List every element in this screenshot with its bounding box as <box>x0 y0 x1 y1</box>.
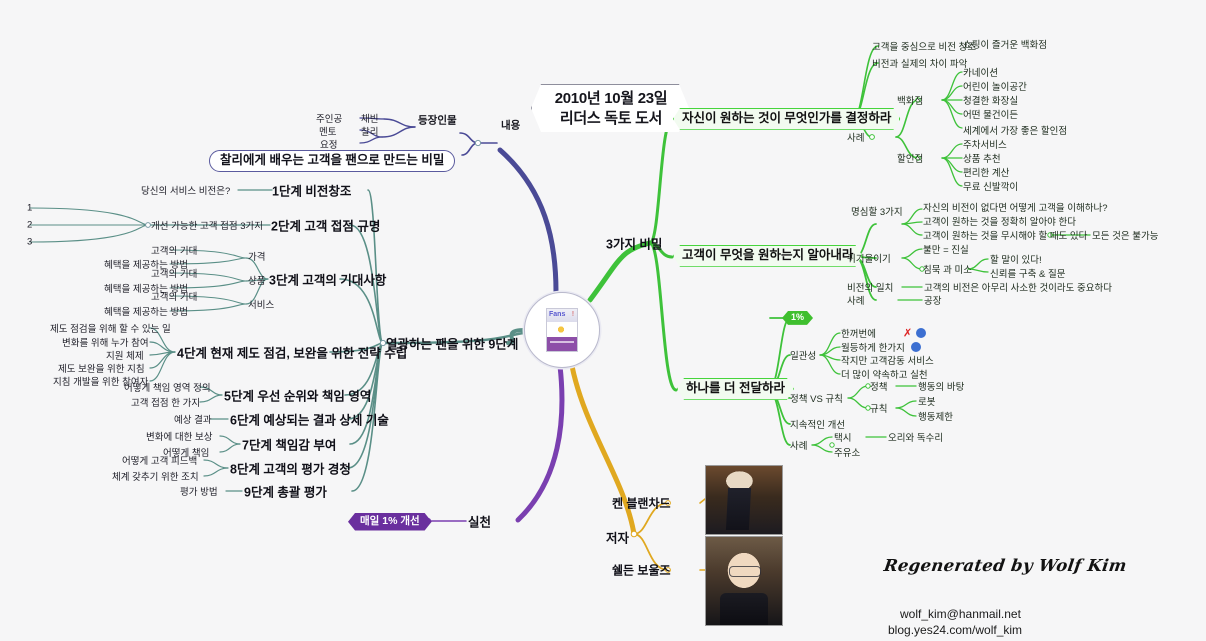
node-s2-c1-item-0[interactable]: 불만 = 진실 <box>923 242 969 256</box>
node-s1-dept-item-0[interactable]: 쇼핑이 즐거운 백화점 <box>963 37 1047 51</box>
node-character-name-1[interactable]: 찰리 <box>361 124 378 138</box>
node-s3-c1-g0-item-0[interactable]: 행동의 바탕 <box>918 379 964 393</box>
node-character-role-0[interactable]: 주인공 <box>316 111 342 125</box>
node-secret-1[interactable]: 자신이 원하는 것이 무엇인가를 결정하라 <box>673 108 900 130</box>
node-s2-c2-tail[interactable]: 고객의 비전은 아무리 사소한 것이라도 중요하다 <box>924 280 1112 294</box>
node-character-name-0[interactable]: 채빈 <box>361 111 378 125</box>
node-step-4-child-1[interactable]: 변화를 위해 누가 참여 <box>62 335 149 349</box>
node-step-3-g0-item-0[interactable]: 고객의 기대 <box>151 243 197 257</box>
node-s1-group-dept[interactable]: 백화점 <box>897 93 923 107</box>
node-step-6[interactable]: 6단계 예상되는 결과 상세 기술 <box>230 410 389 429</box>
node-s2-child-0[interactable]: 명심할 3가지 <box>851 204 903 218</box>
node-s3-c3-group-0[interactable]: 택시 <box>834 430 851 444</box>
node-s1-dept-item-1[interactable]: 카네이션 <box>963 65 998 79</box>
node-step-2[interactable]: 2단계 고객 접점 규명 <box>271 216 380 235</box>
node-s3-c0-item-1[interactable]: 월등하게 한가지 <box>841 340 905 354</box>
book-cover-icon: Fans! <box>546 308 578 352</box>
badge-one-percent[interactable]: 1% <box>782 311 813 325</box>
node-s1-dept-item-3[interactable]: 청결한 화장실 <box>963 93 1018 107</box>
node-s3-child-1[interactable]: 정책 VS 규칙 <box>790 391 843 405</box>
node-s2-c1-sub[interactable]: 침묵 과 미소 <box>923 262 972 276</box>
node-s3-child-0[interactable]: 일관성 <box>790 348 816 362</box>
node-step-1[interactable]: 1단계 비전창조 <box>272 181 351 200</box>
node-secret-2[interactable]: 고객이 무엇을 원하는지 알아내라 <box>673 245 862 267</box>
title-line-2: 리더스 독토 도서 <box>560 109 662 129</box>
node-three-secrets[interactable]: 3가지 비밀 <box>606 234 662 253</box>
badge-daily-improvement[interactable]: 매일 1% 개선 <box>348 513 432 531</box>
node-s2-c0-item-0[interactable]: 자신의 비전이 없다면 어떻게 고객을 이해하나? <box>923 200 1108 214</box>
footer-blog: blog.yes24.com/wolf_kim <box>888 623 1022 637</box>
node-author-name-0[interactable]: 켄 블랜차드 <box>612 495 671 512</box>
node-step-8-child-1[interactable]: 체계 갖추기 위한 조치 <box>112 469 199 483</box>
node-characters[interactable]: 등장인물 <box>418 113 457 128</box>
node-step-3-group-1[interactable]: 상품 <box>248 273 265 287</box>
node-s3-c1-g1-item-1[interactable]: 행동제한 <box>918 409 953 423</box>
node-step-6-child-0[interactable]: 예상 결과 <box>174 412 212 426</box>
node-s2-c1-sub-item-0[interactable]: 할 말이 있다! <box>990 252 1042 266</box>
node-step-4-child-0[interactable]: 제도 점검을 위해 할 수 있는 일 <box>50 321 171 335</box>
node-step-3-group-0[interactable]: 가격 <box>248 249 265 263</box>
node-step-8-child-0[interactable]: 어떻게 고객 피드백 <box>122 453 197 467</box>
node-s3-c1-g1-item-0[interactable]: 로봇 <box>918 394 935 408</box>
node-s2-c0-item-2[interactable]: 고객이 원하는 것을 무시해야 할 때도 있다 <box>923 228 1087 242</box>
node-practice[interactable]: 실천 <box>468 512 491 531</box>
node-step-2-child-0[interactable]: 개선 가능한 고객 접점 3가지 <box>151 218 263 232</box>
node-step-3-group-2[interactable]: 서비스 <box>248 297 274 311</box>
node-s3-c3-group-1[interactable]: 주유소 <box>834 445 860 459</box>
node-s3-child-2[interactable]: 지속적인 개선 <box>790 417 845 431</box>
footer-email: wolf_kim@hanmail.net <box>900 607 1021 621</box>
node-step-7-child-0[interactable]: 변화에 대한 보상 <box>146 429 212 443</box>
node-s2-c0-item-1[interactable]: 고객이 원하는 것을 정확히 알아야 한다 <box>923 214 1076 228</box>
node-content[interactable]: 내용 <box>501 118 520 133</box>
node-step-4[interactable]: 4단계 현재 제도 점검, 보완을 위한 전략 수립 <box>177 343 407 362</box>
node-s3-c0-item-0[interactable]: 한꺼번에 <box>841 326 876 340</box>
node-step-3-g1-item-0[interactable]: 고객의 기대 <box>151 266 197 280</box>
node-s1-child-2[interactable]: 사례 <box>847 130 864 144</box>
node-step-5-child-0[interactable]: 어떻게 책임 영역 정의 <box>124 380 211 394</box>
node-s1-disc-item-3[interactable]: 편리한 계산 <box>963 165 1009 179</box>
signature: Regenerated by Wolf Kim <box>883 556 1128 575</box>
node-s2-c3-tail[interactable]: 공장 <box>924 293 941 307</box>
node-s1-child-1[interactable]: 비전과 실제의 차이 파악 <box>872 56 967 70</box>
node-s3-c3-g0-item-0[interactable]: 오리와 독수리 <box>888 430 943 444</box>
node-s1-dept-item-2[interactable]: 어린이 놀이공간 <box>963 79 1027 93</box>
node-step-2-number-0[interactable]: 1 <box>27 203 32 214</box>
node-step-5-child-1[interactable]: 고객 접점 한 가지 <box>131 395 200 409</box>
node-s1-dept-item-4[interactable]: 어떤 물건이든 <box>963 107 1018 121</box>
node-s3-c1-group-1[interactable]: 규칙 <box>870 401 887 415</box>
node-step-4-child-2[interactable]: 지원 체제 <box>106 348 144 362</box>
node-book-title[interactable]: 찰리에게 배우는 고객을 팬으로 만드는 비밀 <box>209 150 455 172</box>
node-step-4-child-3[interactable]: 제도 보완을 위한 지침 <box>58 361 145 375</box>
node-step-9[interactable]: 9단계 총괄 평가 <box>244 482 327 501</box>
node-author[interactable]: 저자 <box>606 528 629 547</box>
node-step-9-child-0[interactable]: 평가 방법 <box>180 484 218 498</box>
node-step-3-g2-item-1[interactable]: 혜택을 제공하는 방법 <box>104 304 188 318</box>
node-s1-disc-item-4[interactable]: 무료 신발깍이 <box>963 179 1018 193</box>
node-step-3-g2-item-0[interactable]: 고객의 기대 <box>151 289 197 303</box>
node-s2-c1-sub-item-1[interactable]: 신뢰를 구축 & 질문 <box>990 266 1065 280</box>
node-s2-child-3[interactable]: 사례 <box>847 293 864 307</box>
node-secret-3[interactable]: 하나를 더 전달하라 <box>677 378 794 400</box>
title-line-1: 2010년 10월 23일 <box>555 89 668 109</box>
node-s1-child-0[interactable]: 고객을 중심으로 비전 창조 <box>872 39 976 53</box>
node-step-2-number-1[interactable]: 2 <box>27 220 32 231</box>
central-topic-node[interactable]: Fans! <box>524 292 600 368</box>
node-s1-disc-item-0[interactable]: 세계에서 가장 좋은 할인점 <box>963 123 1067 137</box>
node-s1-disc-item-1[interactable]: 주차서비스 <box>963 137 1007 151</box>
node-s3-c0-item-2[interactable]: 작지만 고객감동 서비스 <box>841 353 934 367</box>
node-s1-disc-item-2[interactable]: 상품 추천 <box>963 151 1001 165</box>
node-s2-c0-tail[interactable]: 모든 것은 불가능 <box>1092 228 1158 242</box>
node-author-name-1[interactable]: 쉘든 보울즈 <box>612 562 671 579</box>
node-character-role-1[interactable]: 멘토 <box>319 124 336 138</box>
node-s1-group-discount[interactable]: 할인점 <box>897 151 923 165</box>
node-step-5[interactable]: 5단계 우선 순위와 책임 영역 <box>224 386 371 405</box>
node-character-role-2[interactable]: 요정 <box>320 137 337 151</box>
node-s2-child-2[interactable]: 비전의 일치 <box>847 280 893 294</box>
mindmap-canvas: 2010년 10월 23일 리더스 독토 도서 Fans! 내용 찰리에게 배우… <box>0 0 1206 641</box>
node-step-2-number-2[interactable]: 3 <box>27 237 32 248</box>
node-s3-child-3[interactable]: 사례 <box>790 438 807 452</box>
node-step-7[interactable]: 7단계 책임감 부여 <box>242 435 336 454</box>
author-photo-ken-blanchard <box>705 465 783 535</box>
node-s2-child-1[interactable]: 귀기울이기 <box>847 251 891 265</box>
node-step-8[interactable]: 8단계 고객의 평가 경청 <box>230 459 351 478</box>
page-title: 2010년 10월 23일 리더스 독토 도서 <box>531 84 691 134</box>
author-photo-sheldon-bowles <box>705 536 783 626</box>
node-step-3[interactable]: 3단계 고객의 기대사항 <box>269 270 386 289</box>
node-step-1-child-0[interactable]: 당신의 서비스 비전은? <box>141 183 230 197</box>
node-s3-c1-group-0[interactable]: 정책 <box>870 379 887 393</box>
